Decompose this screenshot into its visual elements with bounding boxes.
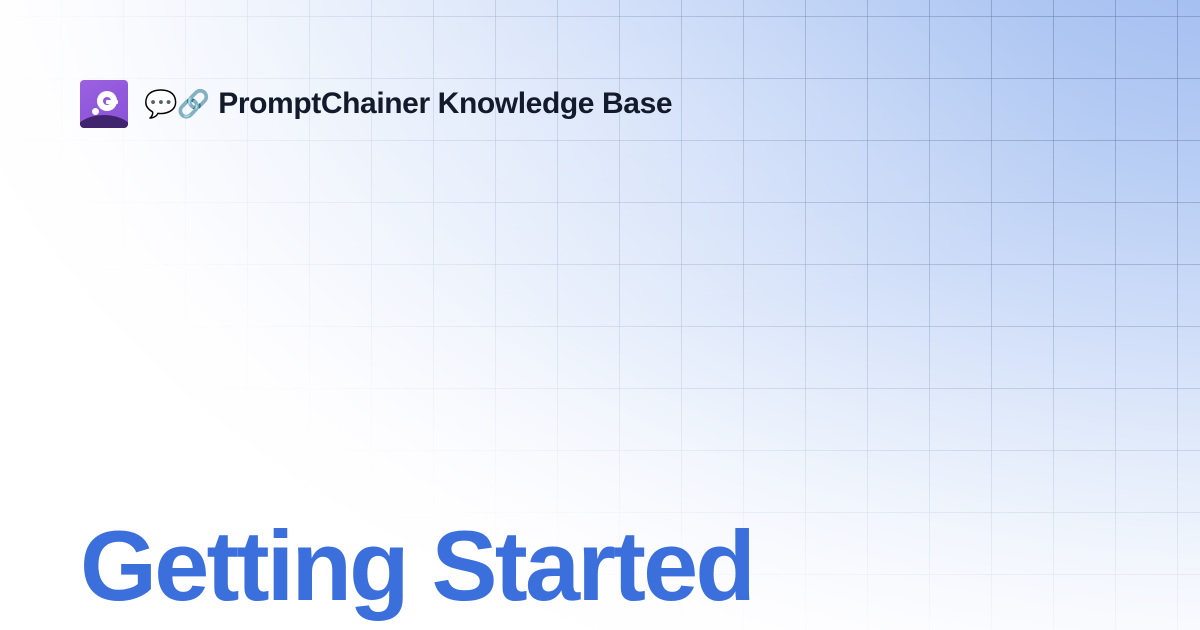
logo-notch-shape (106, 100, 118, 104)
page-title: Getting Started (80, 514, 753, 618)
brand-title: PromptChainer Knowledge Base (218, 89, 672, 119)
logo-dot-shape (92, 108, 99, 115)
logo-bottom-band (80, 115, 128, 128)
social-preview-card: 💬🔗 PromptChainer Knowledge Base Getting … (0, 0, 1200, 630)
brand-header: 💬🔗 PromptChainer Knowledge Base (80, 80, 672, 128)
brand-emoji-pair: 💬🔗 (144, 91, 209, 118)
card-content: 💬🔗 PromptChainer Knowledge Base Getting … (0, 0, 1200, 630)
promptchainer-logo-icon (80, 80, 128, 128)
